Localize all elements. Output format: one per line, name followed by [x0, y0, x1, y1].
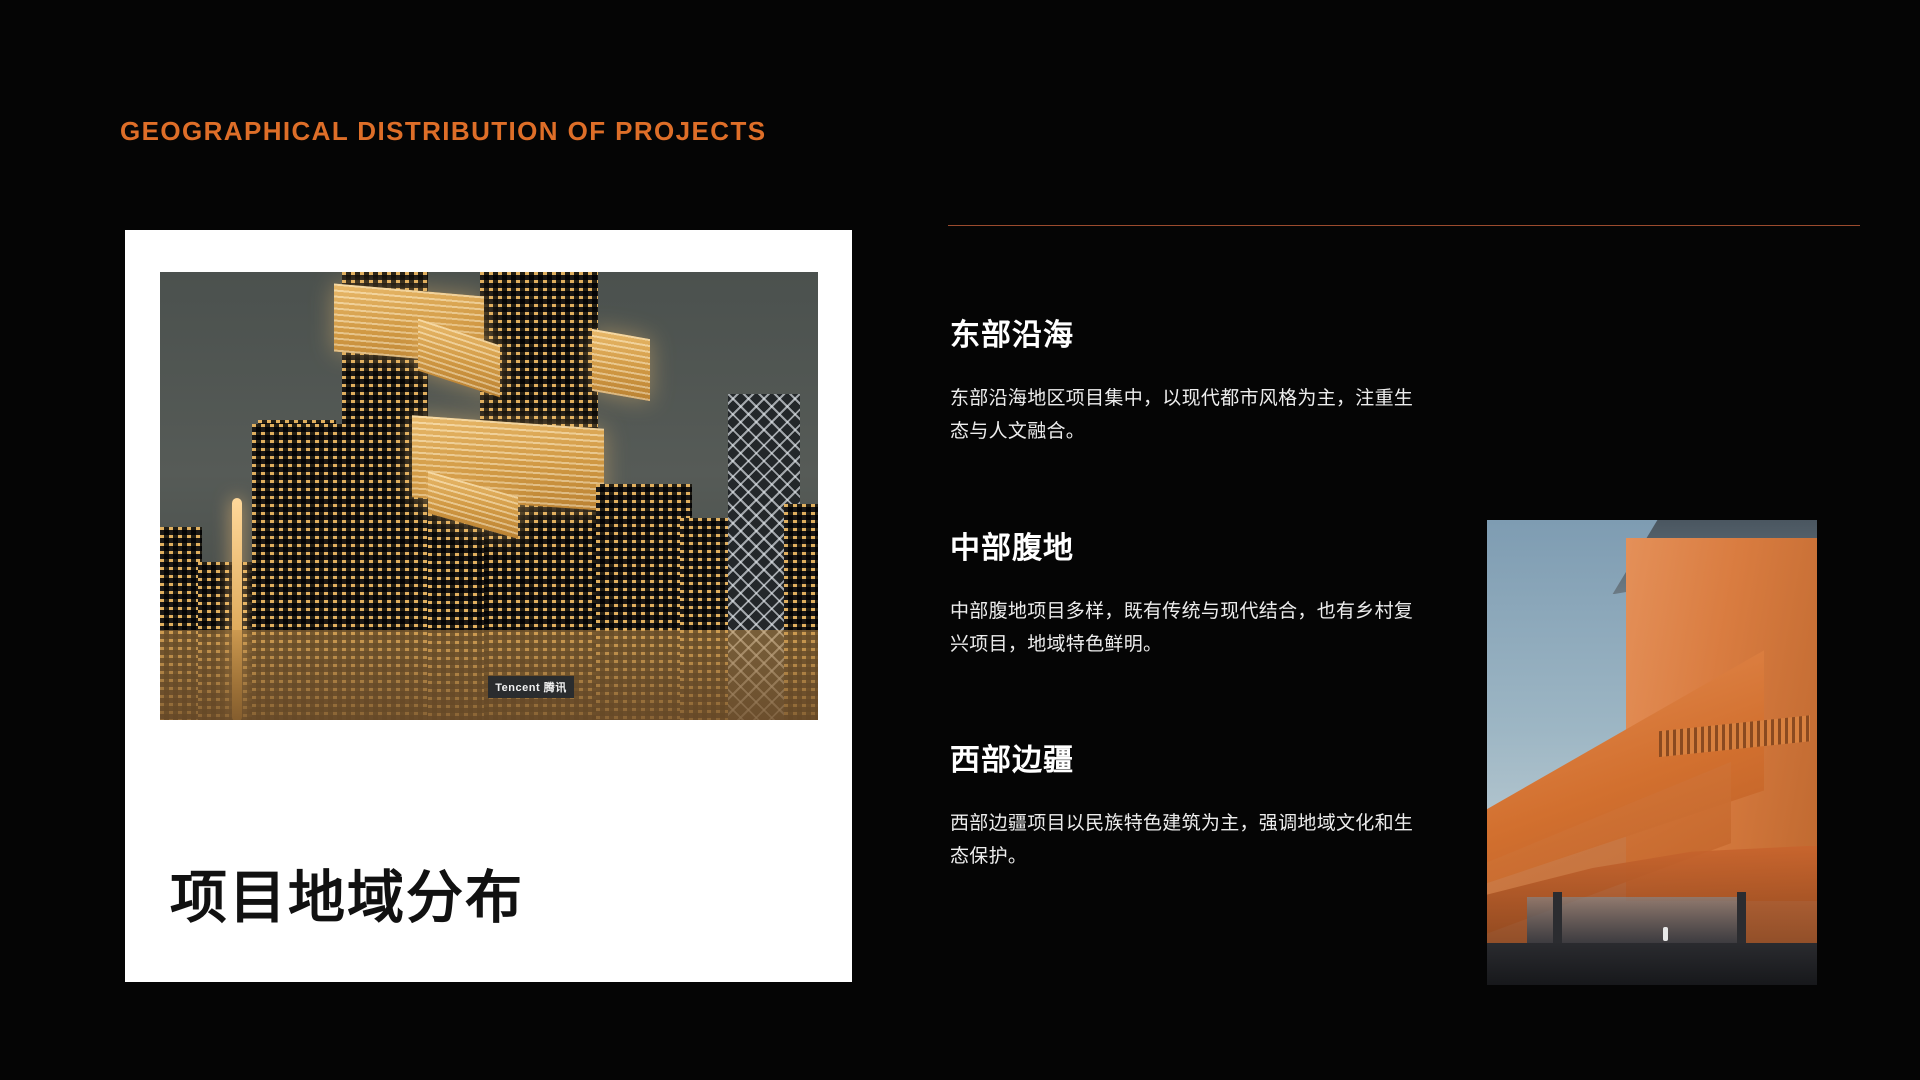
region-title: 西部边疆	[950, 735, 1420, 779]
page-title: GEOGRAPHICAL DISTRIBUTION OF PROJECTS	[120, 116, 766, 147]
section-divider	[948, 225, 1860, 226]
region-block-list: 东部沿海 东部沿海地区项目集中，以现代都市风格为主，注重生态与人文融合。 中部腹…	[950, 310, 1420, 874]
region-title: 东部沿海	[950, 310, 1420, 354]
region-block: 东部沿海 东部沿海地区项目集中，以现代都市风格为主，注重生态与人文融合。	[950, 310, 1420, 449]
region-body: 东部沿海地区项目集中，以现代都市风格为主，注重生态与人文融合。	[950, 382, 1420, 449]
region-body: 中部腹地项目多样，既有传统与现代结合，也有乡村复兴项目，地域特色鲜明。	[950, 595, 1420, 662]
support-column	[1737, 892, 1746, 943]
region-title: 中部腹地	[950, 523, 1420, 567]
region-body: 西部边疆项目以民族特色建筑为主，强调地域文化和生态保护。	[950, 807, 1420, 874]
skybridge-right	[592, 329, 650, 401]
region-block: 西部边疆 西部边疆项目以民族特色建筑为主，强调地域文化和生态保护。	[950, 735, 1420, 874]
street-glow	[160, 630, 818, 720]
region-block: 中部腹地 中部腹地项目多样，既有传统与现代结合，也有乡村复兴项目，地域特色鲜明。	[950, 523, 1420, 662]
card-title: 项目地域分布	[170, 852, 524, 934]
feature-card: Tencent 腾讯 项目地域分布	[125, 230, 852, 982]
slide-root: GEOGRAPHICAL DISTRIBUTION OF PROJECTS	[0, 0, 1920, 1080]
pedestrian-figure	[1663, 927, 1668, 941]
plaza-ground	[1487, 943, 1817, 985]
building-sign: Tencent 腾讯	[488, 676, 574, 698]
architecture-photo	[1487, 520, 1817, 985]
support-column	[1553, 892, 1562, 943]
city-night-photo: Tencent 腾讯	[160, 272, 818, 720]
